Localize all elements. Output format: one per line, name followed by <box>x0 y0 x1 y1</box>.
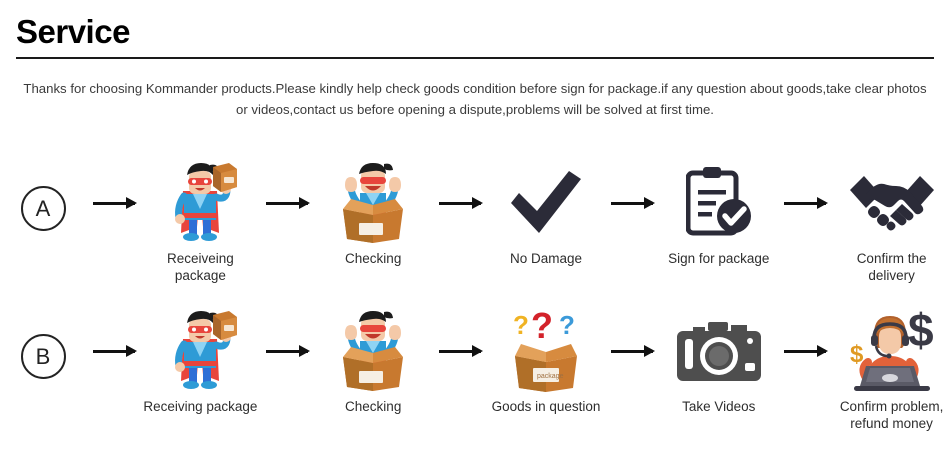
arrow-cell <box>432 160 488 205</box>
question-box-icon: ? ? ? package <box>501 308 591 392</box>
camera-icon <box>675 308 763 392</box>
service-infographic: Service Thanks for choosing Kommander pr… <box>0 0 950 467</box>
support-agent-refund-icon: $ $ <box>846 308 938 392</box>
page-title: Service <box>16 12 130 52</box>
flow-step-label: Receiveing package <box>142 250 259 284</box>
row-badge-b: B <box>21 334 66 379</box>
flow-step-label: Goods in question <box>492 398 601 415</box>
svg-text:$: $ <box>908 308 934 356</box>
arrow-right-icon <box>784 350 826 353</box>
arrow-right-icon <box>611 202 653 205</box>
arrow-cell <box>259 160 315 205</box>
flow-row-a: A <box>0 160 950 280</box>
flow-step: Checking <box>315 308 432 415</box>
svg-text:package: package <box>537 373 564 380</box>
handshake-icon <box>846 160 938 244</box>
flow-step-label: No Damage <box>510 250 582 267</box>
arrow-cell <box>604 308 660 353</box>
arrow-right-icon <box>266 350 308 353</box>
checkmark-icon <box>509 160 583 244</box>
person-in-box-checking-icon <box>333 160 413 244</box>
flow-step: ? ? ? package Goods in question <box>488 308 605 415</box>
arrow-cell <box>432 308 488 353</box>
arrow-right-icon <box>611 350 653 353</box>
arrow-right-icon <box>439 350 481 353</box>
arrow-cell <box>86 160 142 205</box>
flow-step: Checking <box>315 160 432 267</box>
arrow-right-icon <box>439 202 481 205</box>
arrow-cell <box>259 308 315 353</box>
arrow-cell <box>86 308 142 353</box>
flow-step: Take Videos <box>660 308 777 415</box>
arrow-cell <box>777 308 833 353</box>
arrow-right-icon <box>784 202 826 205</box>
flow-step-label: Take Videos <box>682 398 755 415</box>
flow-step: Receiving package <box>142 308 259 415</box>
flow-step: $ $ <box>833 308 950 432</box>
flow-row-b: B <box>0 308 950 428</box>
arrow-right-icon <box>93 202 135 205</box>
clipboard-check-icon <box>686 160 752 244</box>
row-badge-a: A <box>21 186 66 231</box>
arrow-right-icon <box>93 350 135 353</box>
flow-step: Sign for package <box>660 160 777 267</box>
superhero-receiving-package-icon <box>163 160 237 244</box>
row-badge-cell-b: B <box>0 308 86 379</box>
flow-step-label: Receiving package <box>143 398 257 415</box>
flow-step-label: Confirm problem, refund money <box>840 398 944 432</box>
arrow-right-icon <box>266 202 308 205</box>
svg-text:?: ? <box>513 310 529 340</box>
arrow-cell <box>777 160 833 205</box>
person-in-box-checking-icon <box>333 308 413 392</box>
superhero-receiving-package-icon <box>163 308 237 392</box>
flow-step: Confirm the delivery <box>833 160 950 284</box>
flow-step: Receiveing package <box>142 160 259 284</box>
svg-text:?: ? <box>559 310 575 340</box>
intro-paragraph: Thanks for choosing Kommander products.P… <box>22 78 928 120</box>
flow-step: No Damage <box>488 160 605 267</box>
flow-step-label: Confirm the delivery <box>833 250 950 284</box>
row-badge-cell-a: A <box>0 160 86 231</box>
svg-text:?: ? <box>531 308 553 346</box>
flow-step-label: Checking <box>345 250 401 267</box>
header-divider <box>16 57 934 59</box>
arrow-cell <box>604 160 660 205</box>
flow-step-label: Sign for package <box>668 250 769 267</box>
flow-step-label: Checking <box>345 398 401 415</box>
